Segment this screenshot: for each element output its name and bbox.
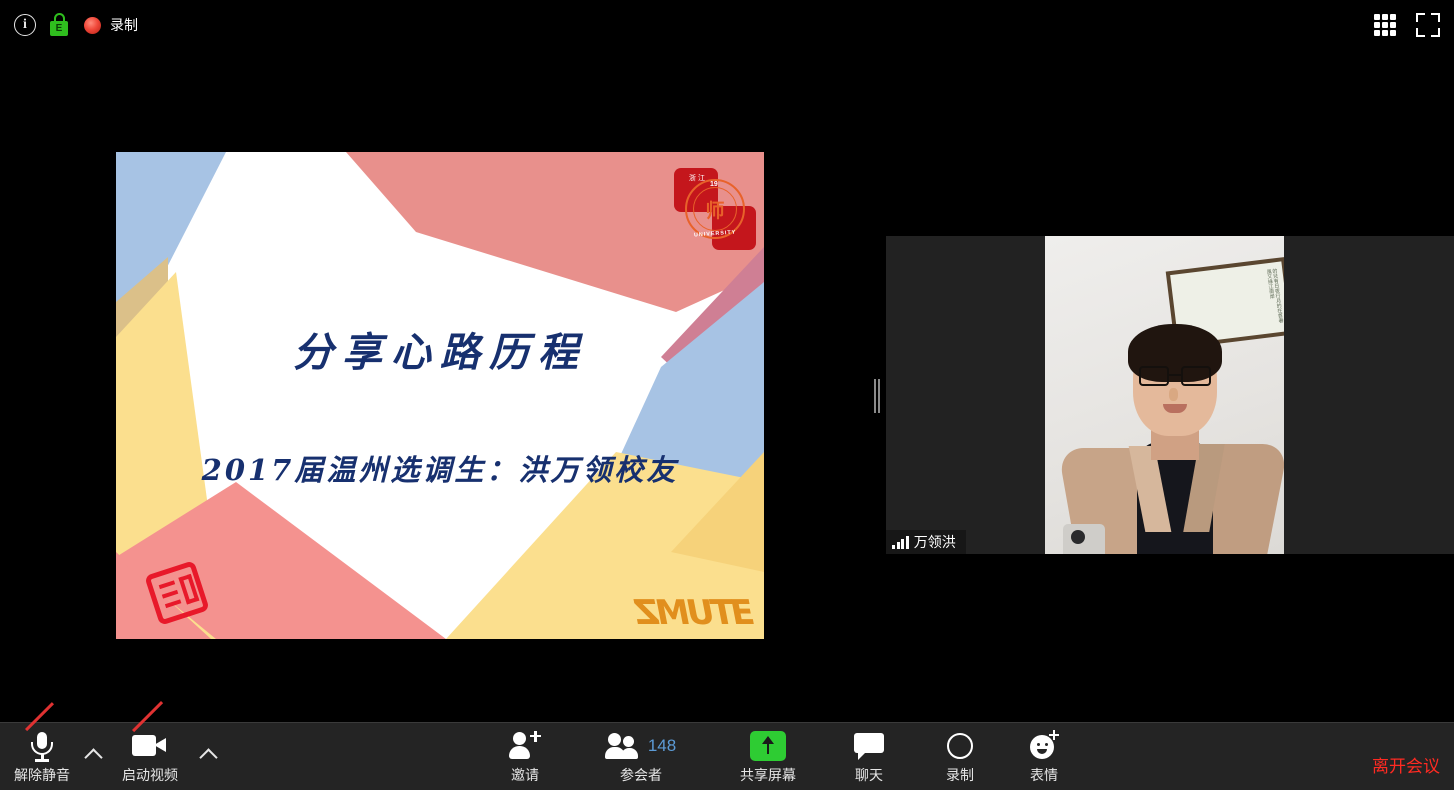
toolbar-button-reactions[interactable]: 表情 — [1014, 723, 1074, 790]
slide-wordmark: ƎTUMZ — [637, 593, 755, 633]
top-bar-left-group: i E 录制 — [0, 13, 138, 37]
toolbar-button-invite[interactable]: 邀请 — [492, 723, 558, 790]
toolbar-label-video: 启动视频 — [122, 765, 178, 785]
toolbar-label-reactions: 表情 — [1030, 765, 1058, 785]
nose — [1169, 388, 1178, 401]
reaction-smiley-icon — [1029, 729, 1059, 763]
toolbar-label-mute: 解除静音 — [14, 765, 70, 785]
panel-drag-handle[interactable] — [872, 378, 881, 414]
encryption-lock-icon[interactable]: E — [48, 13, 70, 37]
desk-object — [1063, 524, 1105, 554]
toolbar-button-participants[interactable]: 148 参会者 — [604, 723, 678, 790]
toolbar-button-chat[interactable]: 聊天 — [840, 723, 898, 790]
signal-strength-icon — [892, 536, 909, 549]
video-options-chevron-icon[interactable] — [199, 745, 217, 763]
slide-subtitle: 2017届温州选调生：洪万领校友 — [116, 447, 764, 489]
participant-name-text: 万领洪 — [914, 532, 956, 552]
toolbar-label-invite: 邀请 — [511, 765, 539, 785]
glasses — [1139, 366, 1211, 386]
info-icon[interactable]: i — [14, 14, 36, 36]
participant-name-label: 万领洪 — [886, 530, 966, 554]
university-seal-logo: 浙 江 19 师 UNIVERSITY — [672, 166, 758, 252]
zoom-meeting-window: i E 录制 — [0, 0, 1454, 790]
top-bar: i E 录制 — [0, 0, 1454, 50]
recording-status-label: 录制 — [110, 15, 138, 35]
top-bar-right-group — [1374, 0, 1440, 50]
share-screen-icon — [750, 729, 786, 763]
participant-video-tile[interactable]: 的兒有日夜行月的在首春風又綠江南岸 万领洪 — [886, 236, 1454, 554]
grid-view-icon[interactable] — [1374, 14, 1396, 36]
people-icon: 148 — [606, 729, 676, 763]
recording-indicator-icon[interactable] — [84, 17, 101, 34]
meeting-toolbar: 解除静音 启动视频 邀请 148 — [0, 722, 1454, 790]
toolbar-label-participants: 参会者 — [620, 765, 662, 785]
seal-en-text: UNIVERSITY — [685, 179, 745, 239]
chat-bubble-icon — [854, 729, 884, 763]
toolbar-label-share-screen: 共享屏幕 — [740, 765, 796, 785]
record-icon — [947, 729, 973, 763]
lock-body: E — [50, 21, 68, 36]
slide-title: 分享心路历程 — [116, 320, 764, 378]
fullscreen-icon[interactable] — [1416, 13, 1440, 37]
leave-meeting-button[interactable]: 离开会议 — [1372, 723, 1440, 790]
slide-background-shapes — [116, 152, 764, 639]
presentation-slide: 浙 江 19 师 UNIVERSITY 分享心路历程 2017届温州选调生：洪万… — [116, 152, 764, 639]
shared-screen-region[interactable]: 浙 江 19 师 UNIVERSITY 分享心路历程 2017届温州选调生：洪万… — [0, 50, 876, 722]
video-off-icon — [132, 729, 168, 763]
toolbar-button-record[interactable]: 录制 — [930, 723, 990, 790]
participant-count: 148 — [648, 736, 676, 756]
toolbar-button-share-screen[interactable]: 共享屏幕 — [730, 723, 806, 790]
toolbar-label-record: 录制 — [946, 765, 974, 785]
video-stream: 的兒有日夜行月的在首春風又綠江南岸 — [1045, 236, 1284, 554]
toolbar-button-mute[interactable]: 解除静音 — [4, 723, 80, 790]
toolbar-button-video[interactable]: 启动视频 — [113, 723, 187, 790]
mic-muted-icon — [27, 729, 57, 763]
person-add-icon — [509, 729, 541, 763]
toolbar-label-chat: 聊天 — [855, 765, 883, 785]
mic-options-chevron-icon[interactable] — [84, 745, 102, 763]
